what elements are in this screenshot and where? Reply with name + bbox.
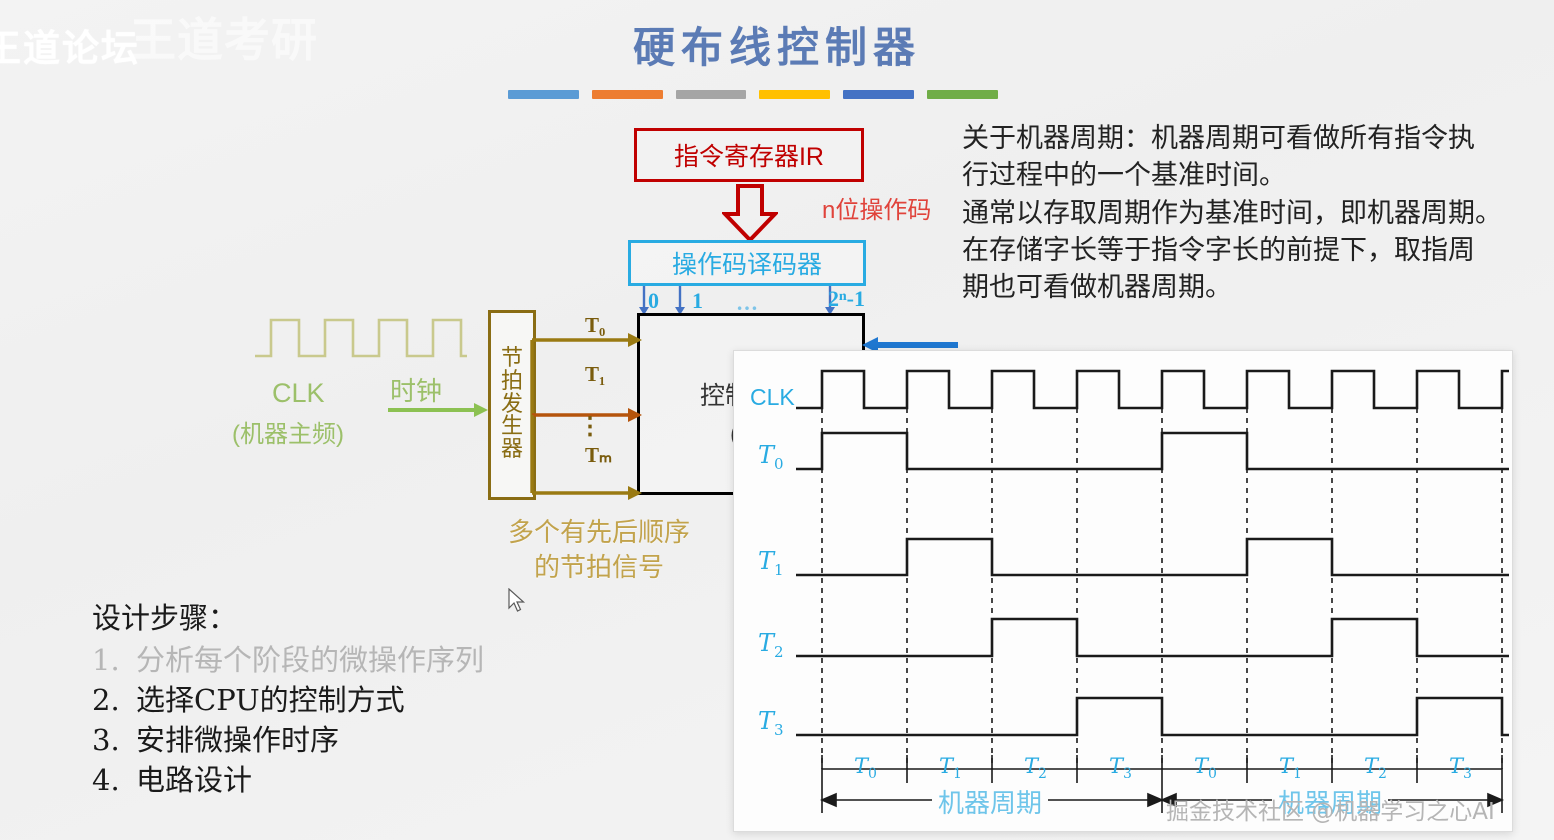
clock-waveform-icon bbox=[255, 312, 470, 368]
waveform-t1 bbox=[796, 539, 1509, 575]
beat-generator-char-0: 节 bbox=[501, 348, 523, 371]
bar-blue bbox=[508, 90, 579, 99]
slot-7-sub: 3 bbox=[1463, 766, 1472, 782]
design-step-text-1: 分析每个阶段的微操作序列 bbox=[136, 640, 484, 680]
slot-5-base: T bbox=[1279, 754, 1293, 778]
slot-label-1: T1 bbox=[939, 754, 962, 782]
waveform-clk bbox=[796, 371, 1509, 408]
instruction-register-label: 指令寄存器IR bbox=[674, 137, 824, 173]
design-step-text-3: 安排微操作时序 bbox=[136, 720, 339, 760]
slot-label-7: T3 bbox=[1449, 754, 1472, 782]
slot-5-sub: 1 bbox=[1293, 766, 1302, 782]
bar-gray bbox=[676, 90, 747, 99]
design-steps-block: 设计步骤： 1. 分析每个阶段的微操作序列 2. 选择CPU的控制方式 3. 安… bbox=[92, 598, 484, 800]
slot-label-0: T0 bbox=[854, 754, 877, 782]
design-step-number-3: 3. bbox=[92, 720, 120, 760]
machine-cycle-note: 关于机器周期：机器周期可看做所有指令执 行过程中的一个基准时间。 通常以存取周期… bbox=[962, 120, 1554, 306]
watermark-bottom-right: 掘金技术社区 @机器学习之心AI bbox=[1166, 792, 1495, 826]
slot-label-2: T2 bbox=[1024, 754, 1047, 782]
slot-7-base: T bbox=[1449, 754, 1463, 778]
opcode-decoder-box: 操作码译码器 bbox=[628, 240, 866, 286]
accent-bar-group bbox=[508, 90, 998, 99]
slot-0-sub: 0 bbox=[868, 766, 877, 782]
machine-cycle-label-1: 机器周期 bbox=[932, 783, 1048, 820]
design-step-text-2: 选择CPU的控制方式 bbox=[136, 680, 405, 720]
beat-signal-label-tm: Tₘ bbox=[585, 443, 612, 468]
slot-1-sub: 1 bbox=[953, 766, 962, 782]
beat-signal-note-line1: 多个有先后顺序 bbox=[484, 515, 714, 550]
beat-signal-ellipsis: ⋮ bbox=[578, 412, 602, 441]
opcode-decoder-label: 操作码译码器 bbox=[672, 245, 822, 281]
waveform-t3 bbox=[796, 698, 1509, 735]
clock-to-beatgen-arrow-icon bbox=[388, 400, 490, 420]
design-step-item-3: 3. 安排微操作时序 bbox=[92, 720, 484, 760]
slot-4-sub: 0 bbox=[1208, 766, 1217, 782]
waveform-t2 bbox=[796, 619, 1509, 656]
slot-6-base: T bbox=[1364, 754, 1378, 778]
decoder-output-label-1: 1 bbox=[692, 288, 703, 314]
bar-navy bbox=[843, 90, 914, 99]
design-step-text-4: 电路设计 bbox=[136, 760, 252, 800]
machine-cycle-note-line-0: 关于机器周期：机器周期可看做所有指令执 bbox=[962, 120, 1554, 157]
machine-cycle-note-line-1: 行过程中的一个基准时间。 bbox=[962, 157, 1554, 194]
bar-yellow bbox=[759, 90, 830, 99]
machine-cycle-note-line-3: 在存储字长等于指令字长的前提下，取指周 bbox=[962, 232, 1554, 269]
slot-6-sub: 2 bbox=[1378, 766, 1387, 782]
beat-generator-char-1: 拍 bbox=[501, 371, 523, 394]
timing-slot-ruler bbox=[822, 755, 1502, 783]
slot-3-base: T bbox=[1109, 754, 1123, 778]
design-step-item-2: 2. 选择CPU的控制方式 bbox=[92, 680, 484, 720]
slot-0-base: T bbox=[854, 754, 868, 778]
decoder-output-label-last: 2ⁿ-1 bbox=[828, 286, 865, 312]
slot-1-base: T bbox=[939, 754, 953, 778]
beat-signal-label-t0: T₀ bbox=[585, 313, 605, 338]
slot-4-base: T bbox=[1194, 754, 1208, 778]
beat-generator-char-2: 发 bbox=[501, 394, 523, 417]
slot-label-3: T3 bbox=[1109, 754, 1132, 782]
machine-cycle-note-line-2: 通常以存取周期作为基准时间，即机器周期。 bbox=[962, 195, 1554, 232]
slot-label-5: T1 bbox=[1279, 754, 1302, 782]
design-step-number-2: 2. bbox=[92, 680, 120, 720]
beat-generator-box: 节 拍 发 生 器 bbox=[488, 310, 536, 500]
mouse-cursor-icon bbox=[508, 588, 526, 614]
waveform-t0 bbox=[796, 433, 1509, 469]
slot-label-4: T0 bbox=[1194, 754, 1217, 782]
timing-diagram-panel: CLK T0 T1 T2 T3 bbox=[733, 350, 1513, 832]
beat-signal-label-t1: T₁ bbox=[585, 362, 605, 387]
design-step-item-4: 4. 电路设计 bbox=[92, 760, 484, 800]
page-title: 硬布线控制器 bbox=[0, 14, 1554, 75]
beat-generator-char-4: 器 bbox=[501, 439, 523, 462]
design-steps-list: 1. 分析每个阶段的微操作序列 2. 选择CPU的控制方式 3. 安排微操作时序… bbox=[92, 640, 484, 800]
clk-label: CLK bbox=[272, 378, 325, 409]
beat-signal-note-line2: 的节拍信号 bbox=[484, 550, 714, 585]
design-steps-heading: 设计步骤： bbox=[92, 598, 484, 638]
bar-orange bbox=[592, 90, 663, 99]
beat-signal-note: 多个有先后顺序 的节拍信号 bbox=[484, 515, 714, 585]
slot-3-sub: 3 bbox=[1123, 766, 1132, 782]
ir-to-decoder-arrow-icon bbox=[722, 184, 778, 242]
beat-generator-char-3: 生 bbox=[501, 416, 523, 439]
design-step-item-1: 1. 分析每个阶段的微操作序列 bbox=[92, 640, 484, 680]
slot-2-base: T bbox=[1024, 754, 1038, 778]
clk-sublabel: (机器主频) bbox=[232, 414, 344, 449]
machine-cycle-note-line-4: 期也可看做机器周期。 bbox=[962, 269, 1554, 306]
slot-2-sub: 2 bbox=[1038, 766, 1047, 782]
slide-canvas: 王道论坛 王道考研 硬布线控制器 指令寄存器IR n位操作码 操作码译码器 0 … bbox=[0, 0, 1554, 840]
design-step-number-4: 4. bbox=[92, 760, 120, 800]
instruction-register-box: 指令寄存器IR bbox=[634, 128, 864, 182]
slot-label-6: T2 bbox=[1364, 754, 1387, 782]
design-step-number-1: 1. bbox=[92, 640, 120, 680]
opcode-width-note: n位操作码 bbox=[822, 190, 931, 225]
bar-green bbox=[927, 90, 998, 99]
